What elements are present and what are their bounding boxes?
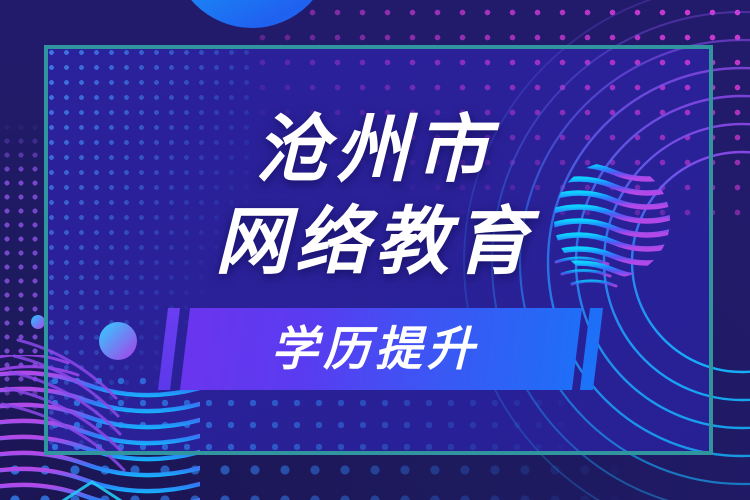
- cyan-circle-icon: [172, 0, 332, 28]
- subtitle-bar-left: [158, 308, 180, 390]
- concentric-arcs-icon: [464, 0, 750, 500]
- decorative-vectors: [0, 0, 750, 500]
- subtitle-bar-right: [580, 308, 603, 390]
- promo-banner: 沧州市 网络教育 学历提升: [0, 0, 750, 500]
- subtitle-bar-main: [180, 308, 582, 390]
- subtitle-banner: [0, 308, 750, 398]
